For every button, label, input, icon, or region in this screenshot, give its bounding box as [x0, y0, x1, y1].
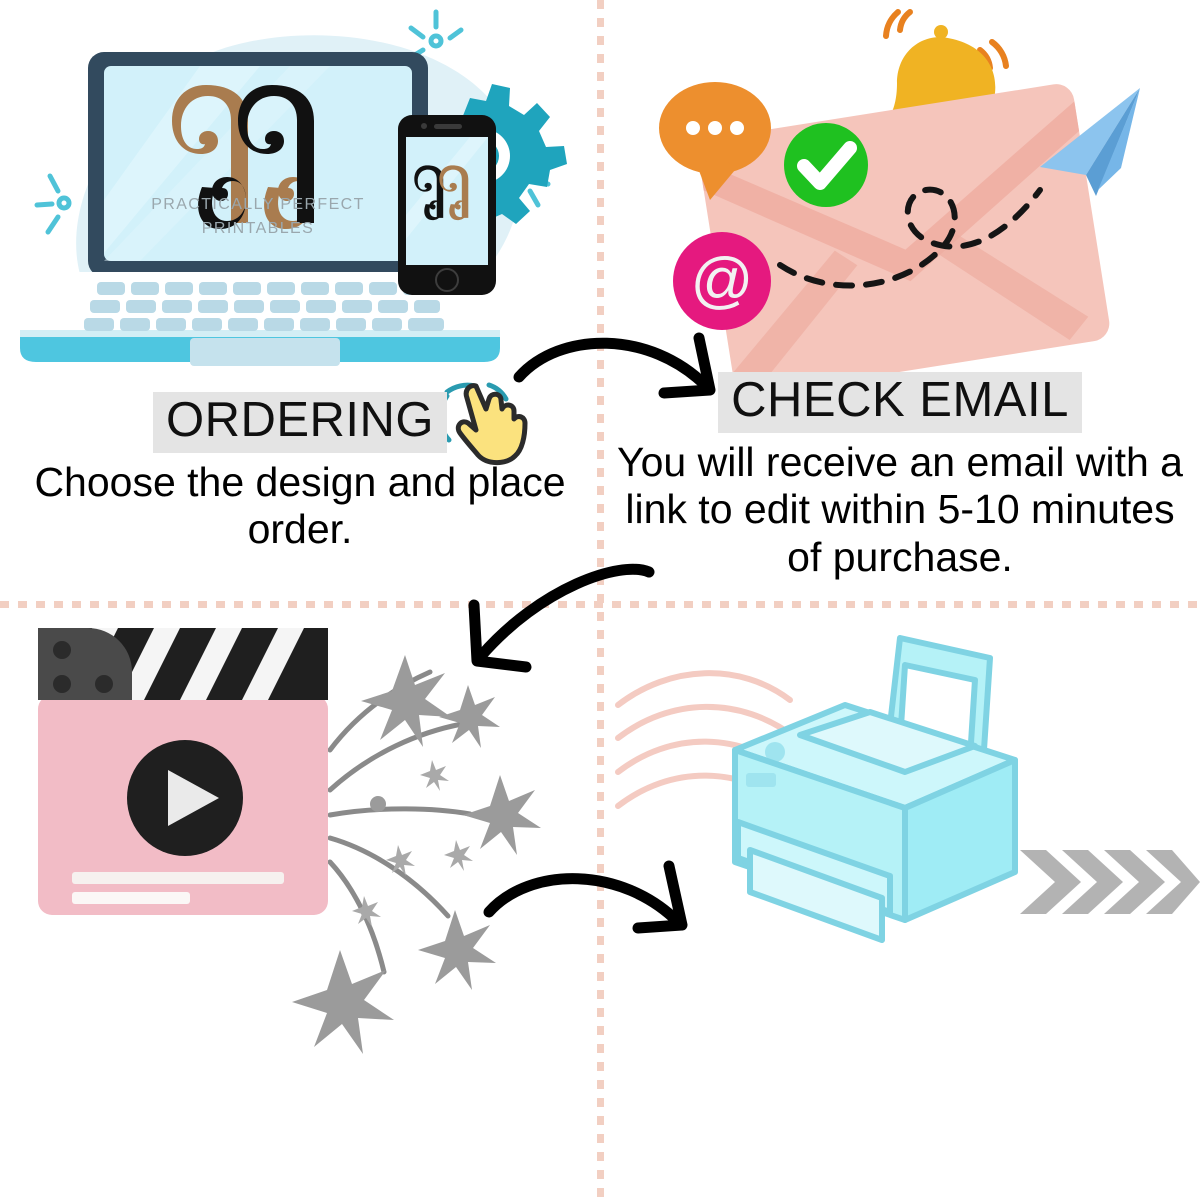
caption-check-email: CHECK EMAIL You will receive an email wi…	[600, 372, 1200, 582]
horizontal-dotted-divider	[0, 601, 1200, 608]
step-panel-production: PRODUCTION You're the producer! Use the …	[0, 600, 600, 1200]
at-sign-icon: @	[673, 232, 771, 330]
chat-bubble-icon	[659, 82, 771, 200]
step-heading-check-email: CHECK EMAIL	[718, 372, 1082, 433]
clapperboard-icon	[38, 628, 328, 915]
laptop-base	[8, 277, 508, 330]
step-panel-check-email: @ CHECK EMAIL You will receive an email …	[600, 0, 1200, 600]
brand-name-line-2: PRINTABLES	[202, 220, 314, 237]
step-panel-ordering: PRACTICALLY PERFECT PRINTABLES	[0, 0, 600, 600]
sparkle-burst-icon	[292, 655, 541, 1054]
flight-path-icon	[780, 190, 1040, 286]
step-body-check-email: You will receive an email with a link to…	[600, 439, 1200, 582]
step-body-ordering: Choose the design and place order.	[0, 459, 600, 554]
laptop-icon	[88, 52, 428, 277]
brand-monogram	[172, 85, 314, 229]
sparkle-icon	[520, 152, 548, 205]
step-panel-print-enjoy: PRINT & ENJOY! Download your new designs…	[600, 600, 1200, 1200]
printer-icon	[735, 638, 1015, 940]
print-enjoy-illustration	[600, 600, 1200, 1200]
smartphone-icon	[398, 115, 496, 295]
bell-icon	[881, 12, 1006, 153]
envelope-icon	[696, 82, 1112, 398]
production-illustration	[0, 600, 600, 1200]
caption-ordering: ORDERING Choose the design and place ord…	[0, 392, 600, 554]
paper-plane-icon	[1040, 88, 1140, 196]
text-line	[72, 892, 190, 904]
brand-name-line-1: PRACTICALLY PERFECT	[151, 196, 365, 213]
chevron-arrows-icon	[1020, 850, 1200, 914]
laptop-trackpad	[190, 338, 340, 366]
wave-lines-icon	[618, 673, 802, 812]
play-button-icon	[127, 740, 243, 856]
infographic-canvas: PRACTICALLY PERFECT PRINTABLES	[0, 0, 1200, 1200]
background-blob	[76, 35, 520, 359]
text-line	[72, 872, 284, 884]
vertical-dotted-divider	[597, 0, 604, 1200]
gear-icon	[406, 84, 567, 242]
step-heading-ordering: ORDERING	[153, 392, 447, 453]
svg-text:@: @	[691, 246, 754, 315]
check-circle-icon	[784, 123, 868, 207]
sparkle-icon	[410, 12, 461, 58]
laptop-keyboard	[84, 282, 444, 366]
sparkle-icon	[37, 176, 69, 232]
